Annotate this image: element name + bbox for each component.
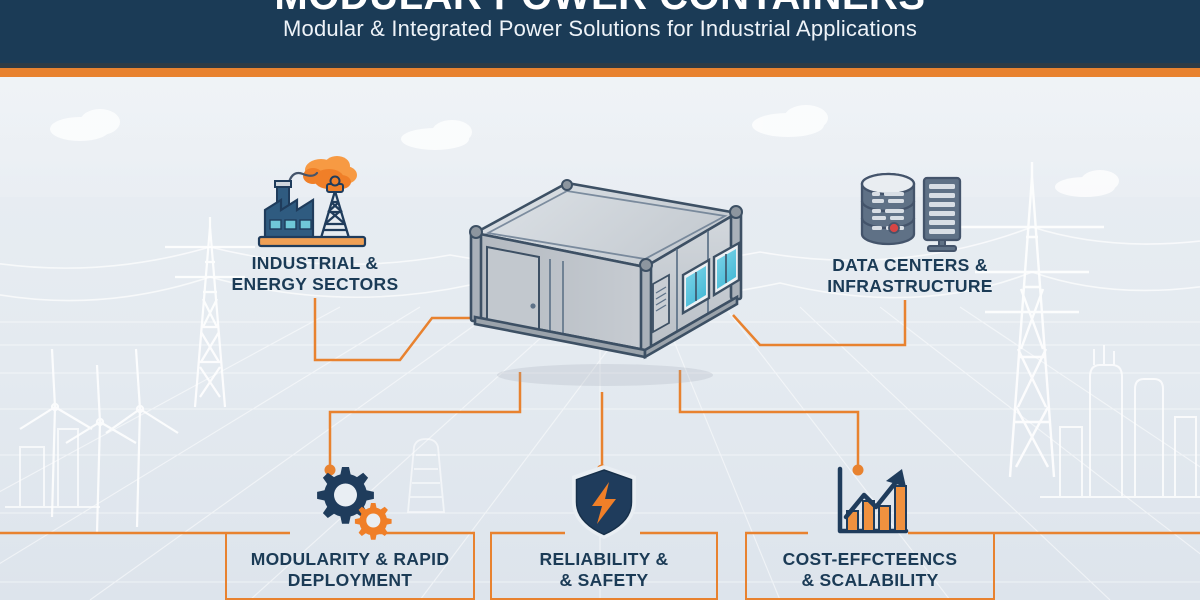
connector-datacenter [733,300,905,345]
database-status-led [889,223,899,233]
growth-bar-chart-icon [822,461,918,543]
shield-bolt-icon [564,461,644,543]
container-shadow [497,364,713,386]
page-subtitle: Modular & Integrated Power Solutions for… [0,16,1200,42]
card-reliability-safety[interactable]: RELIABILITY & & SAFETY [490,533,718,600]
card-modularity-label: MODULARITY & RAPID DEPLOYMENT [227,549,473,591]
server-rack [924,178,960,251]
node-industrial-label: INDUSTRIAL & ENERGY SECTORS [195,253,435,295]
card-cost-efficiency-scalability[interactable]: COST-EFFCTEENCS & SCALABILITY [745,533,995,600]
node-datacenter-label: DATA CENTERS & INFRASTRUCTURE [795,255,1025,297]
modular-container-illustration [455,175,755,400]
gear-small [355,503,392,540]
gears-icon [302,461,398,543]
header-accent-bar [0,68,1200,77]
node-industrial-energy-sectors[interactable]: INDUSTRIAL & ENERGY SECTORS [195,148,435,295]
header-band: MODULAR POWER CONTAINERS Modular & Integ… [0,0,1200,63]
infographic-canvas: INDUSTRIAL & ENERGY SECTORS [0,0,1200,600]
factory-windows [270,220,311,229]
container-vent-louvre [653,275,669,332]
connector-industrial [315,298,478,360]
node-data-centers-infrastructure[interactable]: DATA CENTERS & INFRASTRUCTURE [795,160,1025,297]
factory-base-platform [259,237,365,246]
card-reliability-label: RELIABILITY & & SAFETY [492,549,716,591]
card-modularity-rapid-deployment[interactable]: MODULARITY & RAPID DEPLOYMENT [225,533,475,600]
oil-derrick [321,191,349,238]
factory-oil-derrick-icon [255,148,375,253]
factory-building [265,200,313,238]
card-cost-label: COST-EFFCTEENCS & SCALABILITY [747,549,993,591]
database-server-icon [850,160,970,255]
container-door-handle [530,303,535,308]
